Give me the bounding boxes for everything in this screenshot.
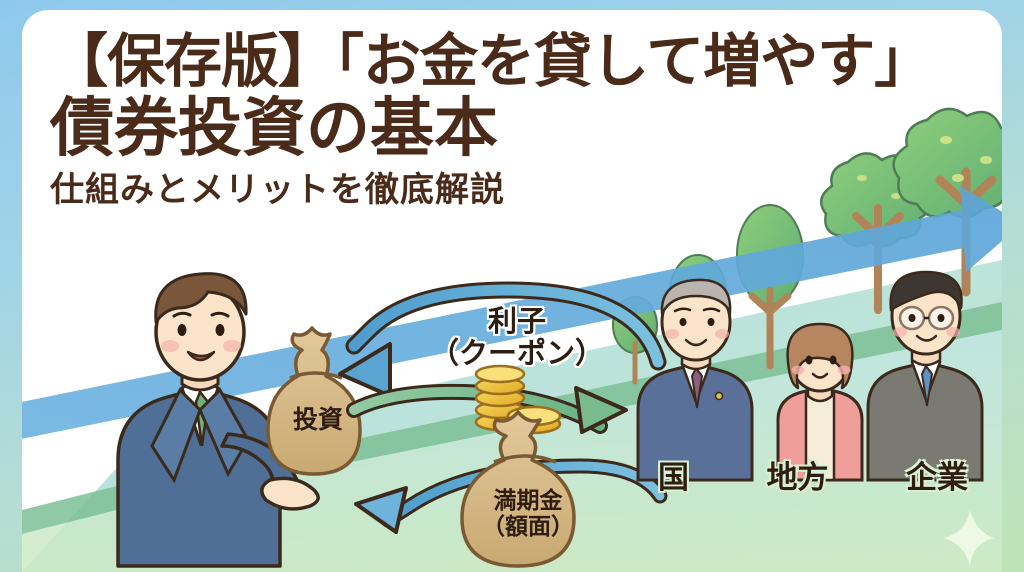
money-bag-icon [268, 328, 360, 474]
issuer-labels: 国 地方 企業 [658, 452, 968, 497]
title-block: 【保存版】「お金を貸して増やす」 債券投資の基本 仕組みとメリットを徹底解説 [50, 32, 970, 216]
issuer-label-local: 地方 [767, 452, 829, 497]
issuer-label-corporate: 企業 [906, 452, 968, 497]
poster-canvas: 【保存版】「お金を貸して増やす」 債券投資の基本 仕組みとメリットを徹底解説 利… [0, 0, 1024, 572]
content-card: 【保存版】「お金を貸して増やす」 債券投資の基本 仕組みとメリットを徹底解説 利… [22, 10, 1002, 572]
page-title-line2: 債券投資の基本 [50, 93, 970, 165]
investment-bag-label: 投資 [274, 406, 362, 434]
interest-label-main: 利子 [422, 306, 612, 338]
maturity-label-main: 満期金 [458, 488, 598, 514]
interest-label-sub: （クーポン） [422, 338, 612, 370]
maturity-label: 満期金 （額面） [458, 488, 598, 540]
sparkle-icon [944, 510, 994, 566]
issuer-label-national: 国 [658, 452, 689, 497]
interest-label: 利子 （クーポン） [422, 306, 612, 371]
page-subtitle: 仕組みとメリットを徹底解説 [50, 165, 970, 216]
maturity-label-sub: （額面） [458, 514, 598, 540]
issuer-figure-national-icon [638, 280, 752, 480]
page-title-line1: 【保存版】「お金を貸して増やす」 [50, 32, 970, 93]
issuer-figure-corporate-icon [868, 272, 982, 480]
